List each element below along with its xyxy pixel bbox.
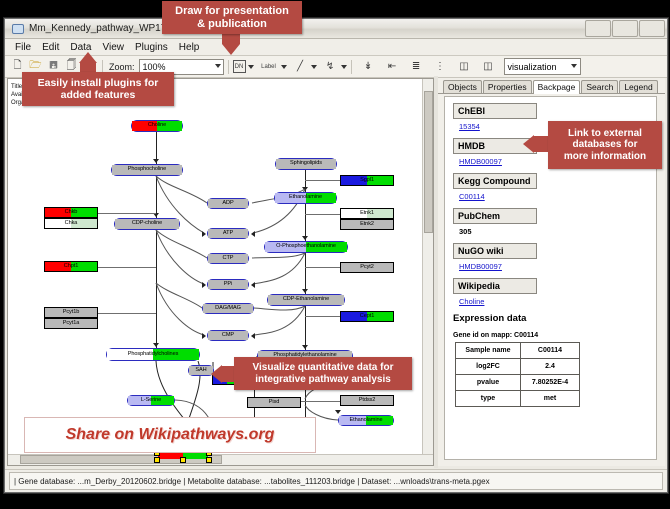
interaction-icon[interactable]: ↯: [322, 58, 339, 75]
expression-table: Sample name C00114 log2FC 2.4 pvalue 7.8…: [455, 342, 580, 407]
callout-links: Link to externaldatabases formore inform…: [548, 121, 662, 169]
menu-edit[interactable]: Edit: [37, 41, 65, 54]
node-label: Pcyt2: [360, 265, 374, 271]
callout-plugins-pointer: [79, 52, 97, 63]
metabolite-node-cdp-choline[interactable]: CDP-choline: [114, 218, 180, 230]
status-text: | Gene database: ...m_Derby_20120602.bri…: [14, 477, 490, 486]
scroll-thumb[interactable]: [424, 91, 433, 233]
node-label: O-Phosphoethanolamine: [276, 244, 336, 250]
line-dropdown[interactable]: ╱: [292, 58, 317, 75]
chevron-down-icon: [341, 65, 347, 69]
node-label: Sphingolipids: [290, 161, 322, 167]
line-icon[interactable]: ╱: [292, 58, 309, 75]
node-label: ATP: [223, 231, 233, 237]
node-label: Phosphocholine: [128, 167, 166, 173]
callout-share: Share on Wikipathways.org: [24, 417, 316, 453]
table-row: log2FC 2.4: [456, 359, 580, 375]
row-value: 2.4: [521, 359, 580, 375]
connector-pcyt2: [305, 267, 340, 268]
arrowhead: [302, 345, 308, 349]
tab-objects[interactable]: Objects: [443, 80, 482, 93]
edge-phosphocholine-cdpcholine: [156, 176, 157, 218]
db-value-pubchem: 305: [459, 227, 656, 236]
selection-handle[interactable]: [180, 457, 186, 463]
toolbar-separator-2: [228, 60, 229, 74]
callout-visualize: Visualize quantitative data forintegrati…: [234, 357, 412, 390]
app-icon: [11, 22, 24, 35]
menu-plugins[interactable]: Plugins: [130, 41, 174, 54]
arrowhead: [335, 410, 341, 414]
menu-bar: File Edit Data View Plugins Help: [5, 39, 667, 56]
row-value: C00114: [521, 343, 580, 359]
row-key: type: [456, 391, 521, 407]
row-key: Sample name: [456, 343, 521, 359]
node-label: Etnk1: [360, 211, 374, 217]
db-link-wikipedia[interactable]: Choline: [459, 297, 656, 306]
status-bar-inner: | Gene database: ...m_Derby_20120602.bri…: [9, 472, 663, 490]
arrowhead: [302, 236, 308, 240]
db-name-nugo: NuGO wiki: [453, 243, 537, 259]
callout-draw-stem: [222, 34, 240, 44]
title-bar: Mm_Kennedy_pathway_WP1771_45176.gpml: [5, 19, 667, 39]
node-label: Choline: [148, 123, 166, 129]
arrowhead: [302, 187, 308, 191]
db-name-kegg: Kegg Compound: [453, 173, 537, 189]
gene-node-pcyt2[interactable]: Pcyt2: [340, 262, 394, 273]
callout-plugins-stem: [80, 62, 96, 72]
metabolite-node-phosphatidylcholines[interactable]: Phosphatidylcholines: [106, 348, 200, 361]
callout-visualize-pointer: [211, 365, 222, 383]
connector-sgpl1: [305, 180, 340, 181]
arrowhead: [251, 231, 255, 237]
table-row: Sample name C00114: [456, 343, 580, 359]
visualization-dropdown[interactable]: visualization: [504, 58, 581, 75]
node-label: Chpt1: [64, 264, 78, 270]
metabolite-node-phosphocholine[interactable]: Phosphocholine: [111, 164, 183, 176]
node-label: Ptdss2: [359, 398, 376, 404]
zoom-label: Zoom:: [109, 62, 135, 72]
connector-chpt1: [98, 267, 156, 268]
toolbar-separator-3: [351, 60, 352, 74]
gene-node-sgpl1[interactable]: Sgpl1: [340, 175, 394, 186]
node-label: Pcyt1a: [63, 321, 80, 327]
minimize-button[interactable]: [585, 20, 611, 37]
arrowhead: [251, 282, 255, 288]
canvas-hscrollbar[interactable]: [8, 454, 433, 465]
share-text: Share on Wikipathways.org: [66, 426, 275, 444]
chevron-down-icon: [215, 64, 221, 68]
arrowhead: [302, 289, 308, 293]
edge-cdpetn-ptdetn: [305, 306, 306, 350]
callout-links-pointer: [523, 135, 534, 153]
zoom-value: 100%: [143, 62, 166, 72]
db-name-wikipedia: Wikipedia: [453, 278, 537, 294]
row-key: log2FC: [456, 359, 521, 375]
tab-legend[interactable]: Legend: [619, 80, 657, 93]
gene-node-ptdss2[interactable]: Ptdss2: [340, 395, 394, 406]
node-label: ADP: [222, 201, 233, 207]
callout-draw-pointer: [222, 44, 240, 55]
table-row: type met: [456, 391, 580, 407]
db-name-chebi: ChEBI: [453, 103, 537, 119]
label-icon[interactable]: Label: [259, 58, 279, 75]
callout-plugins: Easily install plugins foradded features: [22, 72, 174, 106]
node-label: Ethanolamine: [289, 195, 322, 201]
align-left-icon[interactable]: ⇤: [384, 58, 401, 75]
connector-cept1: [305, 316, 340, 317]
node-label: Sgpl1: [360, 178, 374, 184]
size-icon[interactable]: ◫: [456, 58, 473, 75]
metabolite-node-atp[interactable]: ATP: [207, 228, 249, 239]
node-label: Etnk2: [360, 222, 374, 228]
gene-node-etnk2[interactable]: Etnk2: [340, 219, 394, 230]
menu-file[interactable]: File: [10, 41, 37, 54]
node-label: Phosphatidylcholines: [128, 352, 179, 358]
pathway-canvas[interactable]: Title: Availa Organi: [7, 78, 434, 466]
connector-pcyt1: [98, 313, 156, 314]
selection-handle[interactable]: [206, 457, 212, 463]
gene-id-label: Gene id on mapp: C00114: [453, 332, 656, 339]
metabolite-node-sphingolipids[interactable]: Sphingolipids: [275, 158, 337, 170]
arrowhead: [202, 282, 206, 288]
metabolite-node-ctp[interactable]: CTP: [207, 253, 249, 264]
side-tabs: Objects Properties Backpage Search Legen…: [438, 78, 665, 94]
row-value: met: [521, 391, 580, 407]
metabolite-node-adp[interactable]: ADP: [207, 198, 249, 209]
row-value: 7.80252E-4: [521, 375, 580, 391]
node-label: SAH: [195, 368, 206, 374]
node-label: Chkb: [65, 210, 78, 216]
metabolite-node-o-phosphoethanolamine[interactable]: O-Phosphoethanolamine: [264, 241, 348, 253]
edge-cdpcholine-ptdcholine: [156, 230, 157, 348]
maximize-button[interactable]: [612, 20, 638, 37]
gene-node-chpt1[interactable]: Chpt1: [44, 261, 98, 272]
chevron-down-icon: [311, 65, 317, 69]
chevron-down-icon: [571, 64, 577, 68]
node-label: L-Serine: [141, 398, 161, 404]
screenshot-root: Mm_Kennedy_pathway_WP1771_45176.gpml Fil…: [0, 0, 670, 509]
canvas-vscrollbar[interactable]: [422, 79, 433, 465]
datanode-dropdown[interactable]: DN: [233, 60, 254, 73]
gene-node-cept1[interactable]: Cept1: [340, 311, 394, 322]
row-key: pvalue: [456, 375, 521, 391]
arrowhead: [251, 333, 255, 339]
edge-ophospho-cdpethanolamine: [305, 253, 306, 294]
chevron-down-icon: [248, 65, 254, 69]
db-link-nugo[interactable]: HMDB00097: [459, 262, 656, 271]
arrowhead: [153, 159, 159, 163]
label-dropdown[interactable]: Label: [259, 58, 287, 75]
gene-node-etnk1[interactable]: Etnk1: [340, 208, 394, 219]
connector-etnk: [305, 214, 340, 215]
metabolite-node-ethanolamine-bottom[interactable]: Ethanolamine: [338, 415, 394, 426]
close-button[interactable]: [639, 20, 665, 37]
menu-help[interactable]: Help: [174, 41, 206, 54]
node-label: PPi: [224, 282, 232, 288]
node-label: Pisd: [269, 400, 279, 406]
tab-search[interactable]: Search: [581, 80, 618, 93]
connector-ptdss2: [301, 401, 340, 402]
datanode-icon[interactable]: DN: [233, 60, 246, 73]
db-link-kegg[interactable]: C00114: [459, 192, 656, 201]
distribute-icon[interactable]: ⋮: [432, 58, 449, 75]
stack-icon[interactable]: ≣: [408, 58, 425, 75]
gene-node-pcyt1b[interactable]: Pcyt1b: [44, 307, 98, 318]
node-label: CDP-choline: [132, 221, 162, 227]
window-controls[interactable]: [585, 20, 665, 37]
node-label: Chka: [65, 221, 78, 227]
node-label: Pcyt1b: [63, 310, 80, 316]
selection-handle[interactable]: [154, 457, 160, 463]
tab-properties[interactable]: Properties: [483, 80, 532, 93]
chevron-down-icon: [281, 65, 287, 69]
status-bar: | Gene database: ...m_Derby_20120602.bri…: [5, 469, 667, 492]
metabolite-node-choline-top[interactable]: Choline: [131, 120, 183, 132]
arrowhead: [202, 231, 206, 237]
arrowhead: [202, 333, 206, 339]
expression-data-title: Expression data: [453, 313, 656, 324]
gene-node-chkb[interactable]: Chkb: [44, 207, 98, 218]
node-label: CDP-Ethanolamine: [283, 297, 329, 303]
node-label: Cept1: [360, 314, 374, 320]
visualization-value: visualization: [508, 62, 557, 72]
align-bottom-icon[interactable]: ↡: [360, 58, 377, 75]
menu-view[interactable]: View: [97, 41, 130, 54]
metabolite-node-dagmag[interactable]: DAG/MAG: [202, 303, 254, 314]
callout-draw: Draw for presentation& publication: [162, 1, 302, 34]
metabolite-node-ppi[interactable]: PPi: [207, 279, 249, 290]
node-label: CMP: [222, 333, 234, 339]
gene-node-chka[interactable]: Chka: [44, 218, 98, 229]
metabolite-node-l-serine-left[interactable]: L-Serine: [127, 395, 175, 406]
gene-node-pcyt1a[interactable]: Pcyt1a: [44, 318, 98, 329]
gene-node-pisd[interactable]: Pisd: [247, 397, 301, 408]
node-label: CTP: [223, 256, 234, 262]
node-label: DAG/MAG: [215, 306, 241, 312]
node-label: Ethanolamine: [349, 418, 382, 424]
arrowhead: [153, 343, 159, 347]
metabolite-node-ethanolamine-top[interactable]: Ethanolamine: [274, 192, 337, 204]
tab-backpage[interactable]: Backpage: [533, 80, 581, 94]
group-icon[interactable]: ◫: [480, 58, 497, 75]
metabolite-node-cdp-ethanolamine[interactable]: CDP-Ethanolamine: [267, 294, 345, 306]
metabolite-node-cmp[interactable]: CMP: [207, 330, 249, 341]
connector-chk: [98, 213, 156, 214]
interaction-dropdown[interactable]: ↯: [322, 58, 347, 75]
db-name-pubchem: PubChem: [453, 208, 537, 224]
table-row: pvalue 7.80252E-4: [456, 375, 580, 391]
